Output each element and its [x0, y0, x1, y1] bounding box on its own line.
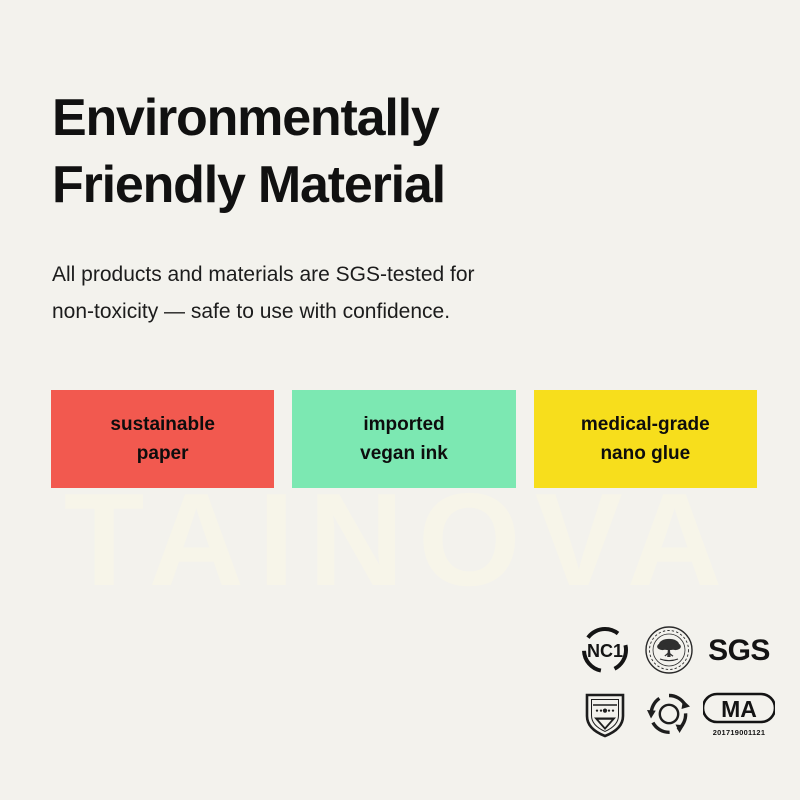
page-title: Environmentally Friendly Material: [52, 85, 752, 220]
page-subtitle-line-2: non-toxicity — safe to use with confiden…: [52, 294, 692, 331]
cma-certification-icon: MA 201719001121: [703, 684, 775, 744]
certification-badge-grid: NC1 SGS: [575, 620, 775, 744]
shield-certification-icon: [575, 684, 635, 744]
page-title-line-1: Environmentally: [52, 85, 752, 153]
tag-imported-vegan-ink: imported vegan ink: [292, 390, 515, 488]
svg-text:SGS: SGS: [708, 634, 770, 667]
material-tag-line-1: imported: [363, 410, 444, 439]
material-tag-line-1: medical-grade: [581, 410, 710, 439]
material-tag-row: sustainable paper imported vegan ink med…: [51, 390, 757, 488]
recycle-certification-icon: [639, 684, 699, 744]
poster-canvas: TAINOVA Environmentally Friendly Materia…: [0, 0, 800, 800]
tag-medical-grade-nano-glue: medical-grade nano glue: [534, 390, 757, 488]
page-subtitle-line-1: All products and materials are SGS-teste…: [52, 257, 692, 294]
page-title-line-2: Friendly Material: [52, 152, 752, 220]
nc1-certification-icon: NC1: [575, 620, 635, 680]
material-tag-line-2: paper: [137, 439, 189, 468]
page-subtitle: All products and materials are SGS-teste…: [52, 257, 692, 331]
brand-watermark: TAINOVA: [0, 474, 800, 606]
svg-text:MA: MA: [721, 696, 757, 722]
material-tag-line-2: vegan ink: [360, 439, 448, 468]
cma-certificate-number: 201719001121: [713, 728, 766, 737]
forest-seal-certification-icon: [639, 620, 699, 680]
tag-sustainable-paper: sustainable paper: [51, 390, 274, 488]
material-tag-line-1: sustainable: [110, 410, 215, 439]
material-tag-line-2: nano glue: [600, 439, 690, 468]
sgs-certification-icon: SGS: [703, 620, 775, 680]
svg-text:NC1: NC1: [587, 641, 623, 661]
